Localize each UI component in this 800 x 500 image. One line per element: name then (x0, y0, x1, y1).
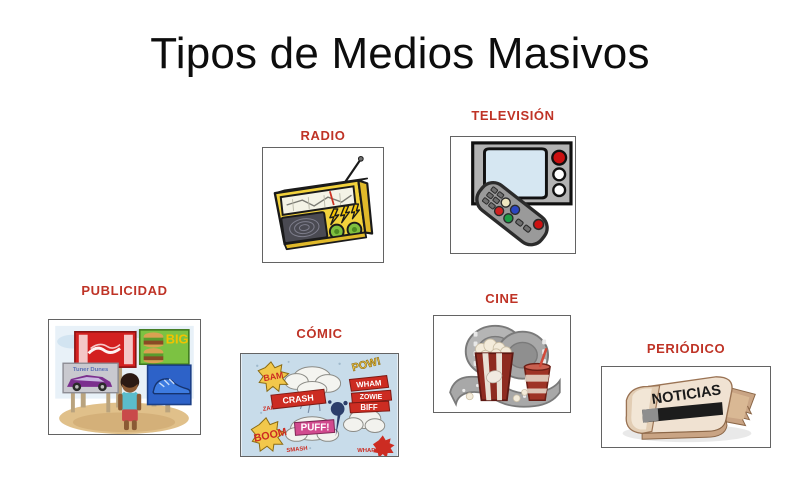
folded-newspaper-icon: NOTICIAS (602, 367, 770, 447)
page-title: Tipos de Medios Masivos (0, 30, 800, 78)
svg-text:BIFF: BIFF (360, 403, 378, 412)
svg-text:BIG: BIG (166, 332, 189, 347)
billboards-advertising-icon: BIG Tuner Dunes (49, 320, 200, 434)
card-frame-comic: BAM BOOM CRASH WHAM (240, 353, 399, 457)
slide-canvas: Tipos de Medios Masivos RADIO (0, 0, 800, 500)
card-frame-cine (433, 315, 571, 413)
svg-text:PUFF!: PUFF! (301, 423, 330, 434)
svg-text:ZOWIE: ZOWIE (360, 394, 383, 401)
svg-text:WHAP: WHAP (357, 448, 375, 454)
card-frame-radio (262, 147, 384, 263)
cinema-popcorn-icon (434, 316, 570, 412)
card-frame-periodico: NOTICIAS (601, 366, 771, 448)
card-label-periodico: PERIÓDICO (601, 341, 771, 356)
svg-text:Tuner Dunes: Tuner Dunes (73, 367, 109, 373)
card-label-comic: CÓMIC (240, 326, 399, 341)
portable-radio-icon (263, 148, 383, 262)
card-label-publicidad: PUBLICIDAD (48, 283, 201, 298)
card-frame-publicidad: BIG Tuner Dunes (48, 319, 201, 435)
card-label-radio: RADIO (262, 128, 384, 143)
card-label-television: TELEVISIÓN (450, 108, 576, 123)
card-label-cine: CINE (433, 291, 571, 306)
crt-television-icon (451, 137, 575, 253)
card-frame-television (450, 136, 576, 254)
comic-onomatopoeia-icon: BAM BOOM CRASH WHAM (241, 354, 398, 456)
